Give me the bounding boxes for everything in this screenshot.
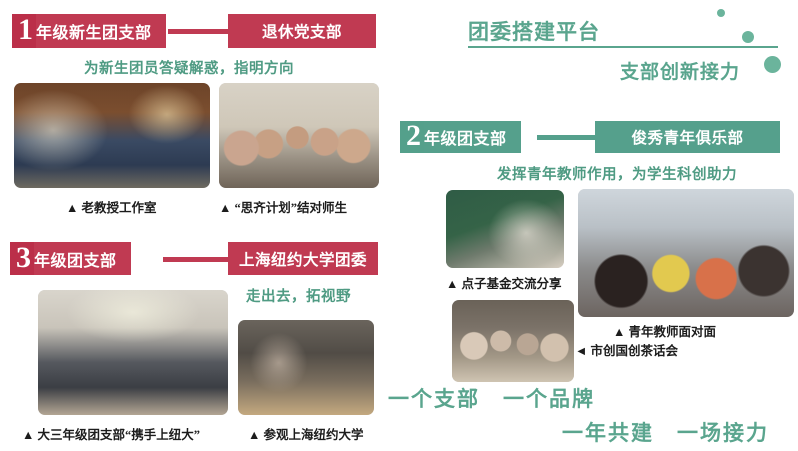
caption-grade3-1: ▲ 大三年级团支部“携手上纽大” bbox=[22, 424, 200, 443]
decor-dot-small bbox=[717, 9, 725, 17]
headline-rule bbox=[468, 46, 778, 48]
badge-grade2-right-label: 俊秀青年俱乐部 bbox=[619, 126, 755, 148]
badge-grade2-left-label: 年级团支部 bbox=[424, 125, 521, 149]
headline-sub: 支部创新接力 bbox=[620, 57, 740, 84]
badge-grade1-left-label: 年级新生团支部 bbox=[36, 19, 166, 43]
photo-grade2-1 bbox=[446, 190, 564, 268]
connector-grade2 bbox=[537, 135, 597, 140]
badge-grade3-number: 3 bbox=[10, 242, 34, 275]
caption-grade2-3: ◄ 市创国创茶话会 bbox=[575, 340, 678, 359]
photo-grade3-1 bbox=[38, 290, 228, 415]
connector-grade3 bbox=[163, 257, 230, 262]
photo-grade2-1-image bbox=[446, 190, 564, 268]
subtitle-grade2: 发挥青年教师作用，为学生科创助力 bbox=[497, 163, 737, 184]
photo-grade1-2 bbox=[219, 83, 379, 188]
photo-grade3-2-image bbox=[238, 320, 374, 415]
subtitle-grade1: 为新生团员答疑解惑，指明方向 bbox=[84, 57, 294, 78]
badge-grade3-left[interactable]: 3 年级团支部 bbox=[10, 242, 131, 275]
badge-grade2-number: 2 bbox=[400, 121, 424, 153]
connector-grade1 bbox=[168, 29, 230, 34]
slogan-line-2: 一年共建 一场接力 bbox=[562, 417, 769, 447]
badge-grade1-number: 1 bbox=[12, 14, 36, 48]
badge-grade3-right-label: 上海纽约大学团委 bbox=[227, 248, 379, 270]
badge-grade2-left[interactable]: 2 年级团支部 bbox=[400, 121, 521, 153]
photo-grade1-1 bbox=[14, 83, 210, 188]
badge-grade1-right-label: 退休党支部 bbox=[250, 20, 354, 42]
caption-grade1-2: ▲ “思齐计划”结对师生 bbox=[219, 197, 347, 216]
badge-grade1-left[interactable]: 1 年级新生团支部 bbox=[12, 14, 166, 48]
badge-grade3-left-label: 年级团支部 bbox=[34, 247, 131, 271]
slogan-line-1: 一个支部 一个品牌 bbox=[388, 383, 595, 413]
photo-grade3-2 bbox=[238, 320, 374, 415]
photo-grade1-1-image bbox=[14, 83, 210, 188]
badge-grade2-right[interactable]: 俊秀青年俱乐部 bbox=[595, 121, 780, 153]
poster-canvas: 团委搭建平台 支部创新接力 1 年级新生团支部 退休党支部 为新生团员答疑解惑，… bbox=[0, 0, 798, 451]
photo-grade3-1-image bbox=[38, 290, 228, 415]
caption-grade1-1: ▲ 老教授工作室 bbox=[66, 197, 157, 216]
photo-grade2-2 bbox=[578, 189, 794, 317]
photo-grade2-3 bbox=[452, 300, 574, 382]
caption-grade2-2: ▲ 青年教师面对面 bbox=[613, 321, 716, 340]
photo-grade1-2-image bbox=[219, 83, 379, 188]
decor-dot-medium bbox=[742, 31, 754, 43]
headline-main: 团委搭建平台 bbox=[468, 16, 600, 46]
badge-grade3-right[interactable]: 上海纽约大学团委 bbox=[228, 242, 378, 275]
caption-grade3-2: ▲ 参观上海纽约大学 bbox=[248, 424, 364, 443]
badge-grade1-right[interactable]: 退休党支部 bbox=[228, 14, 376, 48]
caption-grade2-1: ▲ 点子基金交流分享 bbox=[446, 273, 562, 292]
photo-grade2-2-image bbox=[578, 189, 794, 317]
decor-dot-large bbox=[764, 56, 781, 73]
subtitle-grade3: 走出去，拓视野 bbox=[246, 285, 351, 306]
photo-grade2-3-image bbox=[452, 300, 574, 382]
